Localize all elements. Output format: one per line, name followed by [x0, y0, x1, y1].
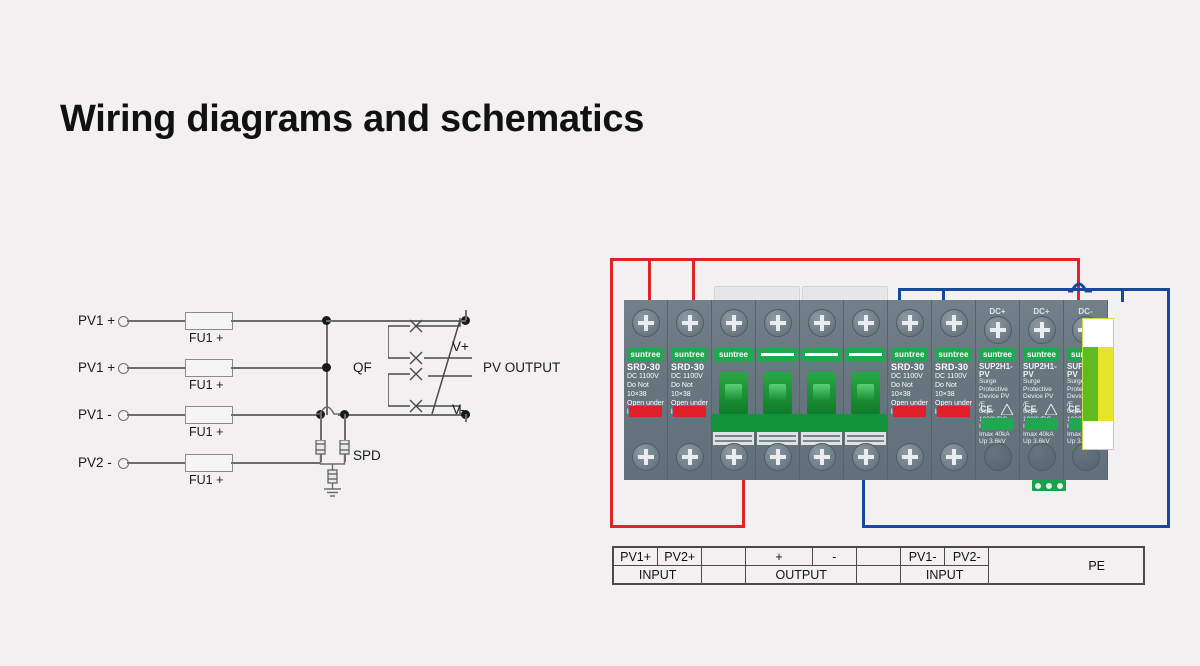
brand-label: suntree: [671, 348, 708, 361]
spd-terminal-label: DC-: [1064, 307, 1107, 316]
legend-cell-pv1-minus: PV1-: [901, 548, 945, 566]
mcb-green-bar: [802, 348, 841, 362]
schematic-wire-2b: [231, 367, 327, 369]
schematic-input-label-3: PV1 -: [78, 407, 112, 422]
wire-red-fuse2: [692, 258, 695, 302]
screw-icon: [720, 443, 748, 471]
fuse-holder-3[interactable]: suntree SRD-30 DC 1100V Do Not 10×38 Ope…: [888, 300, 932, 480]
spd-terminal-label: DC+: [976, 307, 1019, 316]
schematic-input-label-4: PV2 -: [78, 455, 112, 470]
fuse-voltage: DC 1100V: [671, 372, 708, 381]
wire-red-bottom: [610, 525, 745, 528]
fuse-indicator-window: [937, 406, 970, 417]
wire-red-top: [610, 258, 1080, 261]
device-photo: suntree SRD-30 DC 1100V Do Not 10×38 Ope…: [600, 240, 1180, 590]
spd-signal-connector: [1032, 480, 1066, 491]
mcb-base: [756, 414, 799, 432]
legend-cell-blank-2: [856, 548, 900, 566]
schematic-node-pos-2: [322, 363, 331, 372]
schematic-input-label-2: PV1 +: [78, 360, 115, 375]
legend-cell-out-plus: +: [746, 548, 812, 566]
legend-cell-out-minus: -: [812, 548, 856, 566]
screw-icon: [764, 443, 792, 471]
wire-blue-top: [898, 288, 1170, 291]
legend-cell-input-pos: INPUT: [614, 566, 702, 584]
fuse-model: SRD-30: [627, 363, 664, 372]
screw-icon: [940, 309, 968, 337]
screw-icon: [720, 309, 748, 337]
spd-bottom-port: [984, 443, 1012, 471]
schematic-spd-label: SPD: [353, 448, 381, 463]
fuse-holder-4[interactable]: suntree SRD-30 DC 1100V Do Not 10×38 Ope…: [932, 300, 976, 480]
spd-marks: CE: [980, 404, 1015, 416]
spd-spec-imax: Imax 40kA: [1023, 431, 1060, 439]
schematic-fuse-3: [185, 406, 233, 424]
mcb-base: [800, 414, 843, 432]
legend-cell-pv1-plus: PV1+: [614, 548, 658, 566]
spd-spec-imax: Imax 40kA: [979, 431, 1016, 439]
screw-icon: [808, 443, 836, 471]
connector-pin: [1057, 483, 1063, 489]
spd-status-window: [1025, 418, 1058, 430]
schematic-wire-3a: [127, 414, 185, 416]
connector-pin: [1046, 483, 1052, 489]
schematic-fuse-label-3: FU1 +: [189, 425, 223, 439]
legend-cell-pv2-plus: PV2+: [658, 548, 702, 566]
wire-red-fuse1: [648, 258, 651, 302]
screw-icon: [896, 309, 924, 337]
schematic-fuse-2: [185, 359, 233, 377]
brand-label: suntree: [891, 348, 928, 361]
schematic-fuse-1: [185, 312, 233, 330]
mcb-pole-3[interactable]: [800, 300, 844, 480]
page-root: Wiring diagrams and schematics PV1 + FU1…: [0, 0, 1200, 666]
warning-triangle-icon: [1045, 404, 1057, 415]
fuse-note1: Do Not 10×38: [627, 381, 664, 399]
fuse-holder-1[interactable]: suntree SRD-30 DC 1100V Do Not 10×38 Ope…: [624, 300, 668, 480]
spd-model: SUP2H1-PV: [979, 363, 1016, 378]
wire-blue-spd3: [1121, 288, 1124, 302]
wire-blue-right: [1167, 288, 1170, 528]
ce-mark-icon: CE: [1024, 404, 1037, 414]
mcb-pole-1[interactable]: suntree: [712, 300, 756, 480]
terminal-legend-table: PV1+ PV2+ + - PV1- PV2- PE INPUT OUTPUT …: [612, 546, 1145, 585]
screw-icon: [676, 309, 704, 337]
fuse-note1: Do Not 10×38: [891, 381, 928, 399]
fuse-indicator-window: [893, 406, 926, 417]
legend-cell-input-neg: INPUT: [901, 566, 989, 584]
mcb-toggle[interactable]: [763, 372, 792, 414]
mcb-green-bar: [846, 348, 885, 362]
spd-type: Surge Protective: [1023, 378, 1060, 393]
wire-blue-bottom: [862, 525, 1170, 528]
fuse-note1: Do Not 10×38: [935, 381, 972, 399]
schematic-wire-1a: [127, 320, 185, 322]
fuse-voltage: DC 1100V: [627, 372, 664, 381]
wire-blue-bottom-up: [862, 478, 865, 528]
schematic-breaker-label: QF: [353, 360, 372, 375]
schematic-output-label: PV OUTPUT: [483, 360, 560, 375]
mcb-base: [712, 414, 755, 432]
connector-pin: [1035, 483, 1041, 489]
screw-icon: [632, 443, 660, 471]
mcb-pole-4[interactable]: [844, 300, 888, 480]
schematic-wire-2a: [127, 367, 185, 369]
fuse-model: SRD-30: [891, 363, 928, 372]
mcb-pole-2[interactable]: [756, 300, 800, 480]
ce-mark-icon: CE: [980, 404, 993, 414]
screw-icon: [1028, 316, 1056, 344]
schematic-fuse-label-2: FU1 +: [189, 378, 223, 392]
schematic-wire-qf-neg-v: [465, 414, 467, 422]
fuse-note1: Do Not 10×38: [671, 381, 708, 399]
mcb-toggle[interactable]: [807, 372, 836, 414]
screw-icon: [852, 443, 880, 471]
screw-icon: [808, 309, 836, 337]
spd-bottom-port: [1028, 443, 1056, 471]
warning-triangle-icon: [1001, 404, 1013, 415]
legend-cell-pe: PE: [989, 548, 1144, 584]
schematic-wire-3b: [231, 414, 318, 416]
screw-icon: [764, 309, 792, 337]
screw-icon: [676, 443, 704, 471]
fuse-voltage: DC 1100V: [891, 372, 928, 381]
schematic-input-label-1: PV1 +: [78, 313, 115, 328]
schematic-output-negative-label: V-: [452, 402, 465, 417]
fuse-indicator-window: [629, 406, 662, 417]
schematic-fuse-4: [185, 454, 233, 472]
legend-cell-blank-4: [856, 566, 900, 584]
schematic-wire-qf-pos-v: [465, 310, 467, 320]
schematic-fuse-label-1: FU1 +: [189, 331, 223, 345]
mcb-toggle[interactable]: [851, 372, 880, 414]
brand-label: suntree: [979, 348, 1016, 361]
brand-label: suntree: [627, 348, 664, 361]
fuse-holder-2[interactable]: suntree SRD-30 DC 1100V Do Not 10×38 Ope…: [668, 300, 712, 480]
fuse-model: SRD-30: [935, 363, 972, 372]
brand-label: suntree: [935, 348, 972, 361]
spd-marks: CE: [1024, 404, 1059, 416]
spd-type: Surge Protective: [979, 378, 1016, 393]
screw-icon: [940, 443, 968, 471]
fuse-indicator-window: [673, 406, 706, 417]
ce-mark-icon: CE: [1068, 404, 1081, 414]
spd-terminal-label: DC+: [1020, 307, 1063, 316]
legend-cell-pv2-minus: PV2-: [945, 548, 989, 566]
pe-terminal-block: [1082, 318, 1114, 450]
schematic-wire-4a: [127, 462, 185, 464]
spd-model: SUP2H1-PV: [1023, 363, 1060, 378]
spd-module-1[interactable]: DC+ suntree SUP2H1-PV Surge Protective D…: [976, 300, 1020, 480]
spd-module-2[interactable]: DC+ suntree SUP2H1-PV Surge Protective D…: [1020, 300, 1064, 480]
wire-red-left: [610, 258, 613, 528]
legend-row-top: PV1+ PV2+ + - PV1- PV2- PE: [614, 548, 1144, 566]
fuse-voltage: DC 1100V: [935, 372, 972, 381]
schematic-wire-4b: [231, 462, 321, 464]
wiring-schematic: PV1 + FU1 + PV1 + FU1 + PV1 - FU1 + PV2 …: [0, 0, 600, 666]
legend-cell-blank-1: [702, 548, 746, 566]
mcb-base: [844, 414, 887, 432]
legend-cell-blank-3: [702, 566, 746, 584]
spd-status-window: [981, 418, 1014, 430]
fuse-model: SRD-30: [671, 363, 708, 372]
schematic-output-positive-label: V+: [452, 339, 469, 354]
mcb-green-bar: [758, 348, 797, 362]
schematic-fuse-label-4: FU1 +: [189, 473, 223, 487]
brand-label: suntree: [1023, 348, 1060, 361]
screw-icon: [632, 309, 660, 337]
wire-crossover-icon: [1068, 278, 1092, 294]
mcb-toggle[interactable]: [719, 372, 748, 414]
screw-icon: [984, 316, 1012, 344]
brand-label: suntree: [714, 348, 753, 362]
screw-icon: [852, 309, 880, 337]
screw-icon: [896, 443, 924, 471]
legend-cell-output: OUTPUT: [746, 566, 856, 584]
